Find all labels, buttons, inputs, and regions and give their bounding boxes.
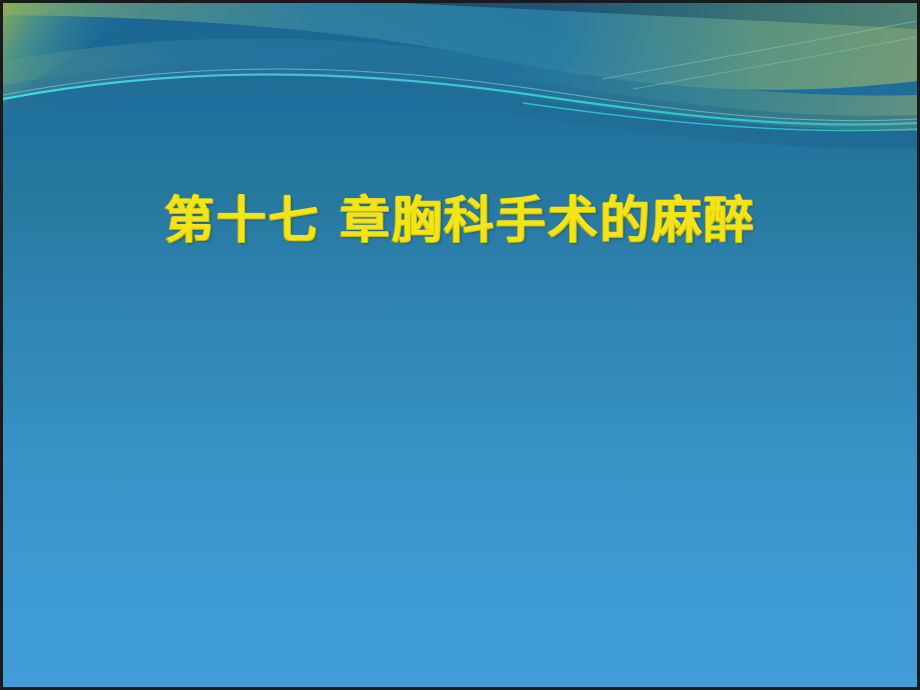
slide-title[interactable]: 第十七 章胸科手术的麻醉 [164,189,755,252]
ribbon-olive [3,3,917,90]
highlight-arc-right-2 [633,37,917,89]
highlight-tail [523,103,917,131]
wave-ribbon-decoration [3,3,917,153]
presentation-slide: 第十七 章胸科手术的麻醉 [0,0,920,690]
title-placeholder[interactable]: 第十七 章胸科手术的麻醉 [3,189,917,252]
ribbon-dark-wedge [403,3,917,29]
highlight-arc-right-1 [603,21,917,79]
ribbon-band-secondary [3,61,917,149]
highlight-curve-primary [3,75,917,125]
ribbon-band-primary [3,38,917,131]
wave-ribbon-svg [3,3,917,153]
highlight-curve-secondary [3,69,917,121]
left-green-glow [3,3,153,103]
